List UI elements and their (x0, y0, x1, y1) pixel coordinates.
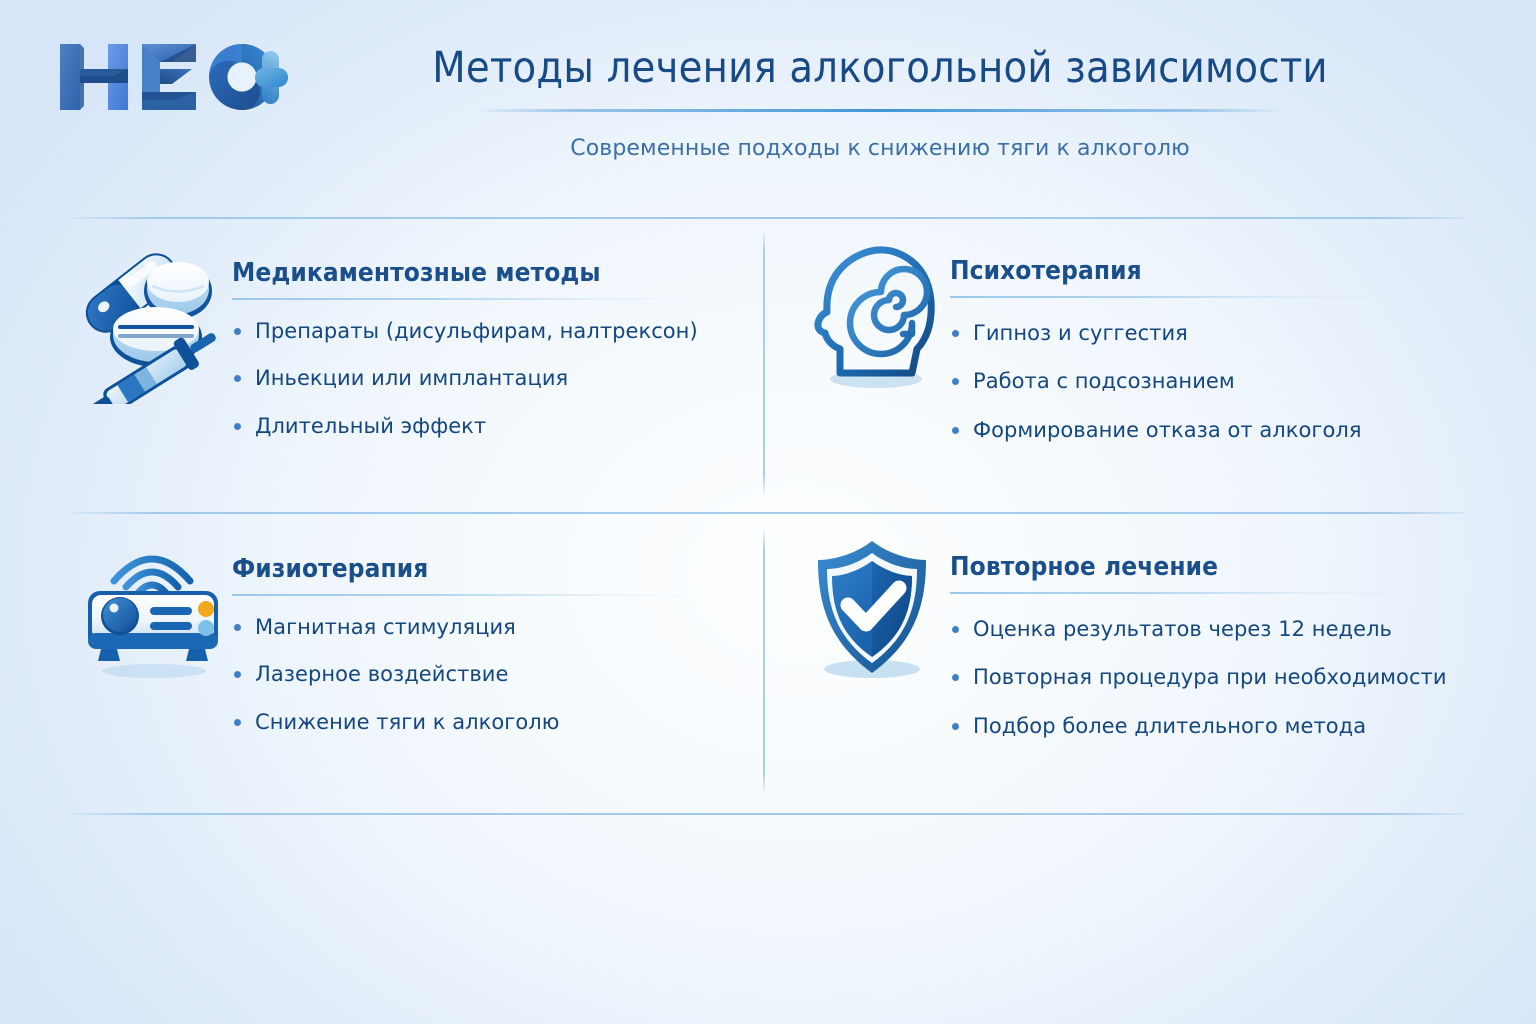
list-item: Подбор более длительного метода (950, 713, 1460, 739)
shield-check-icon-svg (800, 533, 950, 688)
list-item: Работа с подсознанием (950, 368, 1460, 394)
page-title: Методы лечения алкогольной зависимости (300, 44, 1460, 93)
card-psychotherapy-bullets: Гипноз и суггестия Работа с подсознанием… (950, 298, 1460, 443)
card-title: Психотерапия (950, 256, 1460, 286)
head-with-spiral-icon (800, 237, 950, 402)
title-underline (474, 109, 1286, 112)
card-physiotherapy-body: Физиотерапия Магнитная стимуляция Лазерн… (232, 535, 737, 735)
list-item: Повторная процедура при необходимости (950, 664, 1460, 690)
list-item: Формирование отказа от алкоголя (950, 417, 1460, 443)
card-physiotherapy: Физиотерапия Магнитная стимуляция Лазерн… (72, 535, 737, 735)
card-physiotherapy-bullets: Магнитная стимуляция Лазерное воздействи… (232, 596, 737, 735)
shield-check-icon (800, 533, 950, 698)
card-repeat-treatment: Повторное лечение Оценка результатов чер… (800, 533, 1460, 761)
list-item: Магнитная стимуляция (232, 614, 737, 640)
card-title: Физиотерапия (232, 554, 737, 584)
card-medication-bullets: Препараты (дисульфирам, налтрексон) Инье… (232, 300, 737, 439)
page-subtitle: Современные подходы к снижению тяги к ал… (300, 136, 1460, 161)
title-block: Методы лечения алкогольной зависимости С… (300, 44, 1460, 161)
header: Методы лечения алкогольной зависимости С… (0, 0, 1536, 200)
card-title: Медикаментозные методы (232, 258, 737, 288)
card-medication-body: Медикаментозные методы Препараты (дисуль… (232, 239, 737, 439)
therapy-device-waves-icon (72, 535, 232, 700)
infographic-poster: Методы лечения алкогольной зависимости С… (0, 0, 1536, 1024)
card-psychotherapy-body: Психотерапия Гипноз и суггестия Работа с… (950, 237, 1460, 465)
therapy-device-waves-icon-svg (72, 535, 232, 685)
card-repeat-treatment-bullets: Оценка результатов через 12 недель Повто… (950, 594, 1460, 739)
list-item: Снижение тяги к алкоголю (232, 709, 737, 735)
list-item: Лазерное воздействие (232, 661, 737, 687)
neo-plus-logo-icon (56, 38, 288, 116)
card-repeat-treatment-body: Повторное лечение Оценка результатов чер… (950, 533, 1460, 761)
divider-bottom (70, 813, 1466, 815)
list-item: Препараты (дисульфирам, налтрексон) (232, 318, 737, 344)
card-medication: Медикаментозные методы Препараты (дисуль… (72, 239, 737, 439)
list-item: Иньекции или имплантация (232, 365, 737, 391)
list-item: Длительный эффект (232, 413, 737, 439)
card-title: Повторное лечение (950, 552, 1460, 582)
neo-plus-logo (56, 38, 288, 116)
list-item: Гипноз и суггестия (950, 320, 1460, 346)
pills-and-syringe-icon (72, 239, 232, 404)
head-with-spiral-icon-svg (800, 237, 950, 402)
pills-and-syringe-icon-svg (72, 239, 232, 404)
cards-grid: Медикаментозные методы Препараты (дисуль… (0, 217, 1536, 813)
card-psychotherapy: Психотерапия Гипноз и суггестия Работа с… (800, 237, 1460, 465)
list-item: Оценка результатов через 12 недель (950, 616, 1460, 642)
